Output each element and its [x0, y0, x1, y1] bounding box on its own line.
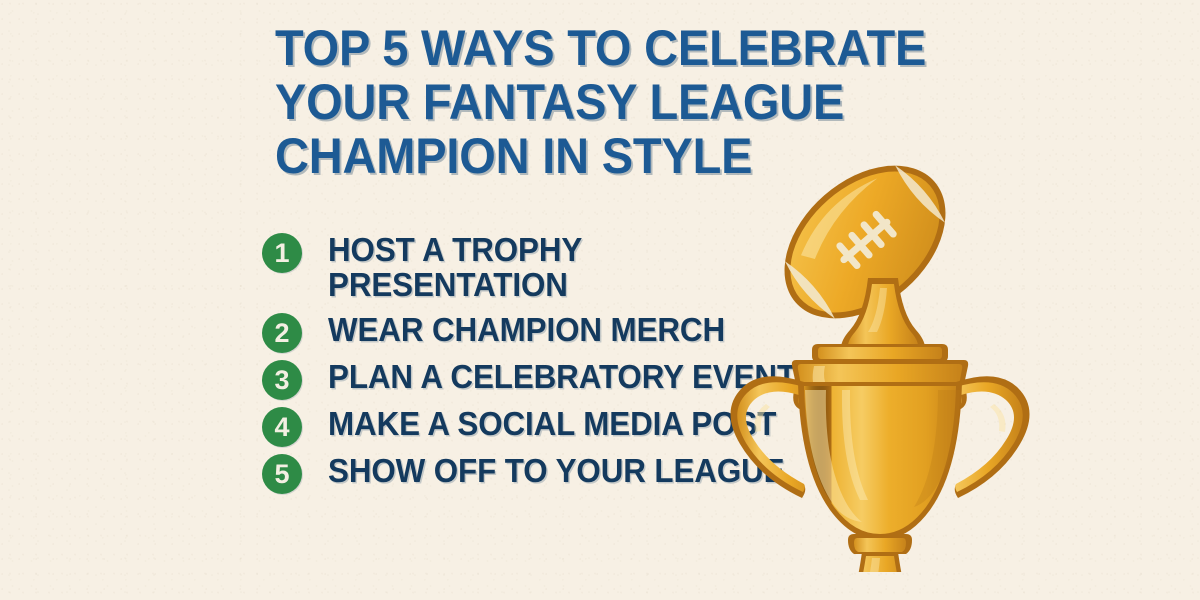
list-number-badge-1: 1 [262, 233, 302, 273]
title-line-1: TOP 5 WAYS TO CELEBRATE [275, 21, 933, 75]
list-item-label-3: PLAN A CELEBRATORY EVENT [328, 359, 796, 394]
list-item-label-2: WEAR CHAMPION MERCH [328, 312, 725, 347]
list-item-label-4: MAKE A SOCIAL MEDIA POST [328, 406, 776, 441]
trophy-illustration [730, 82, 1030, 572]
list-number-badge-4: 4 [262, 407, 302, 447]
list-item-label-5: SHOW OFF TO YOUR LEAGUE [328, 453, 784, 488]
trophy-stem [826, 534, 934, 572]
list-number-badge-3: 3 [262, 360, 302, 400]
cup-rim [792, 344, 968, 385]
list-number-badge-2: 2 [262, 313, 302, 353]
list-number-badge-5: 5 [262, 454, 302, 494]
list-item-label-1: HOST A TROPHY PRESENTATION [328, 232, 797, 302]
infographic-canvas: TOP 5 WAYS TO CELEBRATE YOUR FANTASY LEA… [0, 0, 1200, 600]
cup-bowl [798, 382, 962, 540]
